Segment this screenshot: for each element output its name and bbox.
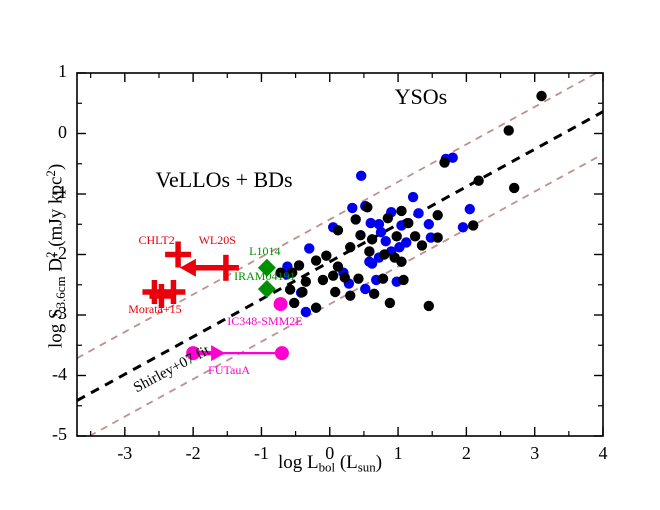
scatter-point [369, 289, 379, 299]
annotation-ysos: YSOs [395, 84, 448, 110]
scatter-point [396, 206, 406, 216]
scatter-point [398, 275, 408, 285]
scatter-point [356, 171, 366, 181]
scatter-point [362, 202, 372, 212]
scatter-point [333, 225, 343, 235]
scatter-point [318, 275, 328, 285]
scatter-point [367, 234, 377, 244]
point-label-morata-15: Morata+15 [128, 302, 181, 317]
scatter-point [424, 301, 434, 311]
scatter-point [301, 277, 311, 287]
scatter-point [330, 287, 340, 297]
scatter-point [297, 287, 307, 297]
scatter-point [311, 255, 321, 265]
scatter-point [396, 257, 406, 267]
scatter-point [364, 257, 374, 267]
scatter-point [432, 232, 442, 242]
scatter-point [321, 251, 331, 261]
scatter-point [379, 249, 389, 259]
scatter-point [353, 274, 363, 284]
scatter-point [304, 243, 314, 253]
scatter-point [381, 236, 391, 246]
point-label-iram04191: IRAM04191 [234, 269, 295, 284]
scatter-plot [0, 0, 660, 510]
scatter-point [378, 274, 388, 284]
scatter-point [311, 303, 321, 313]
scatter-point [340, 272, 350, 282]
x-axis-title: log Lbol (Lsun) [0, 452, 660, 476]
scatter-point [345, 290, 355, 300]
scatter-point [345, 242, 355, 252]
scatter-point [328, 270, 338, 280]
annotation-vellos-bds: VeLLOs + BDs [156, 167, 293, 193]
scatter-point [401, 237, 411, 247]
scatter-point [285, 284, 295, 294]
scatter-point [417, 240, 427, 250]
scatter-point [364, 246, 374, 256]
scatter-point [391, 231, 401, 241]
scatter-point [509, 183, 519, 193]
data-points [275, 91, 546, 317]
y-tick-label: -5 [11, 424, 67, 445]
scatter-point [360, 284, 370, 294]
scatter-point [439, 157, 449, 167]
point-label-wl20s: WL20S [199, 233, 236, 248]
point-label-futaua: FUTauA [208, 363, 250, 378]
scatter-point [410, 231, 420, 241]
scatter-point [468, 220, 478, 230]
scatter-point [385, 298, 395, 308]
scatter-point [413, 208, 423, 218]
scatter-point [408, 192, 418, 202]
scatter-point [504, 125, 514, 135]
scatter-point [376, 227, 386, 237]
scatter-point [351, 214, 361, 224]
scatter-point [465, 204, 475, 214]
scatter-point [403, 218, 413, 228]
scatter-point [458, 222, 468, 232]
scatter-point [424, 219, 434, 229]
scatter-point [432, 210, 442, 220]
scatter-point [347, 203, 357, 213]
scatter-point [355, 230, 365, 240]
y-axis-title: log S3.6cm D2 (mJy kpc2) [43, 96, 69, 416]
scatter-point [536, 91, 546, 101]
y-tick-label: 1 [11, 61, 67, 82]
scatter-point [333, 261, 343, 271]
shirley07-fit-line [77, 112, 603, 401]
point-label-l1014: L1014 [249, 244, 280, 259]
scatter-point [383, 213, 393, 223]
scatter-point [473, 175, 483, 185]
scatter-point [289, 298, 299, 308]
figure-container: -3-2-10123410-1-2-3-4-5 YSOs VeLLOs + BD… [0, 0, 660, 510]
point-label-chlt2: CHLT2 [138, 233, 174, 248]
point-label-ic348-smm2e: IC348-SMM2E [227, 314, 302, 329]
